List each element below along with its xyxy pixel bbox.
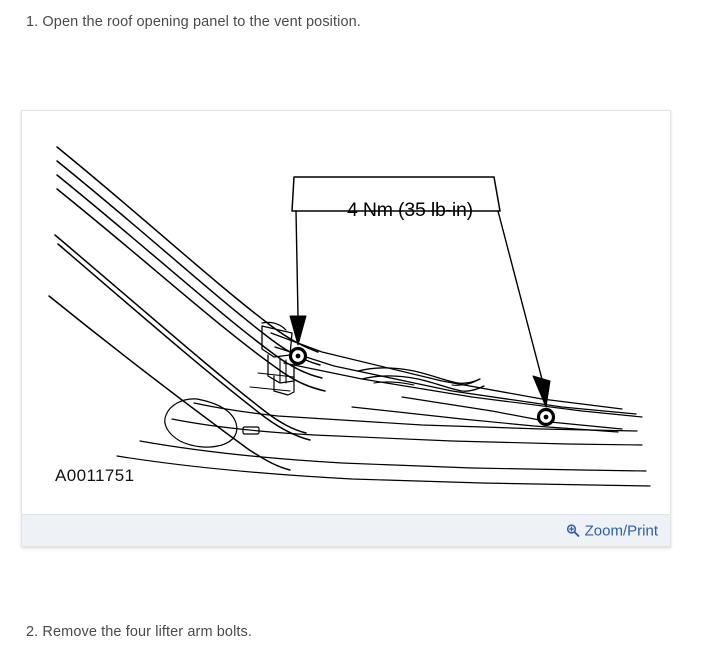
step-2-instruction: 2. Remove the four lifter arm bolts. (26, 622, 252, 642)
figure-footer-bar: Zoom/Print (22, 514, 670, 546)
magnifier-plus-icon (566, 524, 580, 538)
figure-illustration: 4 Nm (35 lb-in) A0011751 (22, 111, 670, 514)
figure-panel: 4 Nm (35 lb-in) A0011751 Zoom/Print (21, 110, 671, 547)
torque-specification-label: 4 Nm (35 lb-in) (310, 199, 510, 222)
zoom-print-label: Zoom/Print (585, 522, 658, 539)
figure-part-id: A0011751 (55, 466, 134, 486)
technical-line-drawing (22, 111, 670, 514)
zoom-print-link[interactable]: Zoom/Print (566, 522, 658, 539)
document-page: 1. Open the roof opening panel to the ve… (0, 0, 712, 665)
step-1-instruction: 1. Open the roof opening panel to the ve… (26, 12, 361, 32)
